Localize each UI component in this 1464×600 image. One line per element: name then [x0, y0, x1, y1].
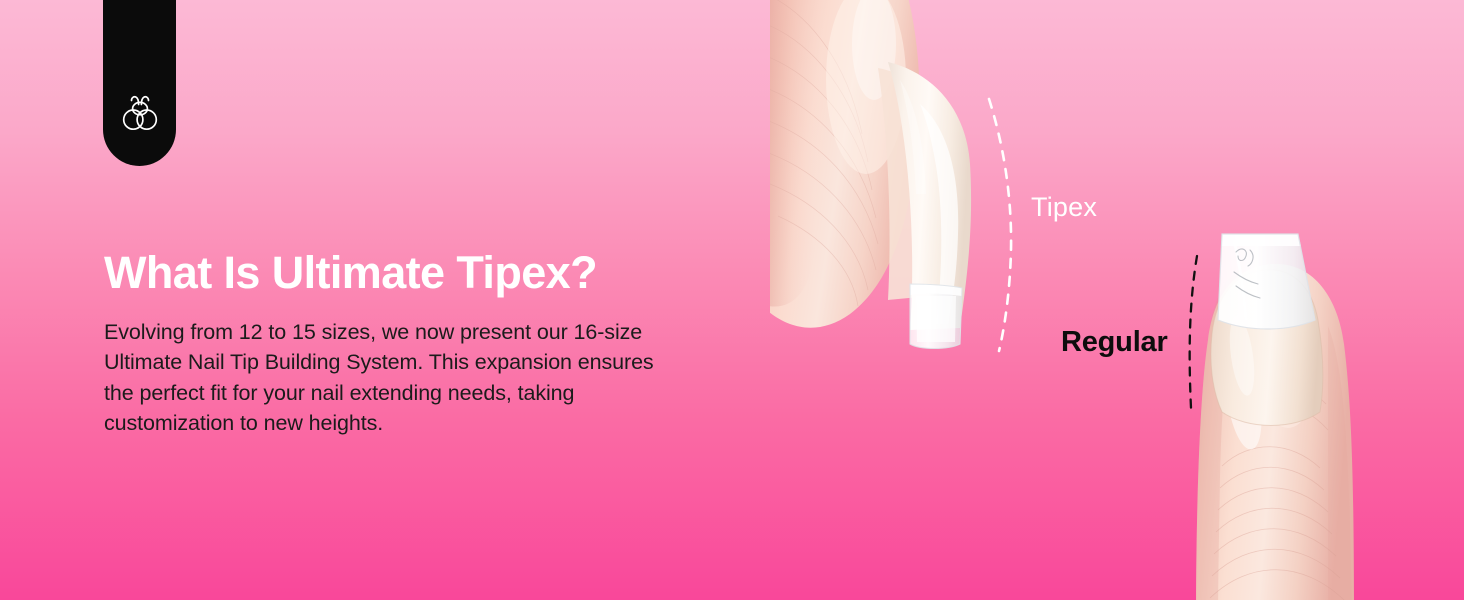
- copy-block: What Is Ultimate Tipex? Evolving from 12…: [104, 249, 714, 439]
- label-tipex: Tipex: [1031, 192, 1097, 223]
- label-regular: Regular: [1061, 326, 1168, 359]
- promo-banner: What Is Ultimate Tipex? Evolving from 12…: [0, 0, 1464, 600]
- body-paragraph: Evolving from 12 to 15 sizes, we now pre…: [104, 317, 679, 439]
- dashed-curve-guide-icon: [960, 80, 1040, 375]
- page-title: What Is Ultimate Tipex?: [104, 249, 714, 297]
- brand-tab: [103, 0, 176, 166]
- finger-with-long-nail-tip-photo-icon: [770, 0, 1030, 389]
- interlocking-loops-logo-icon: [117, 92, 163, 138]
- dashed-line-guide-icon: [1160, 240, 1230, 435]
- finger-with-regular-nail-tip-photo-icon: [1178, 216, 1464, 600]
